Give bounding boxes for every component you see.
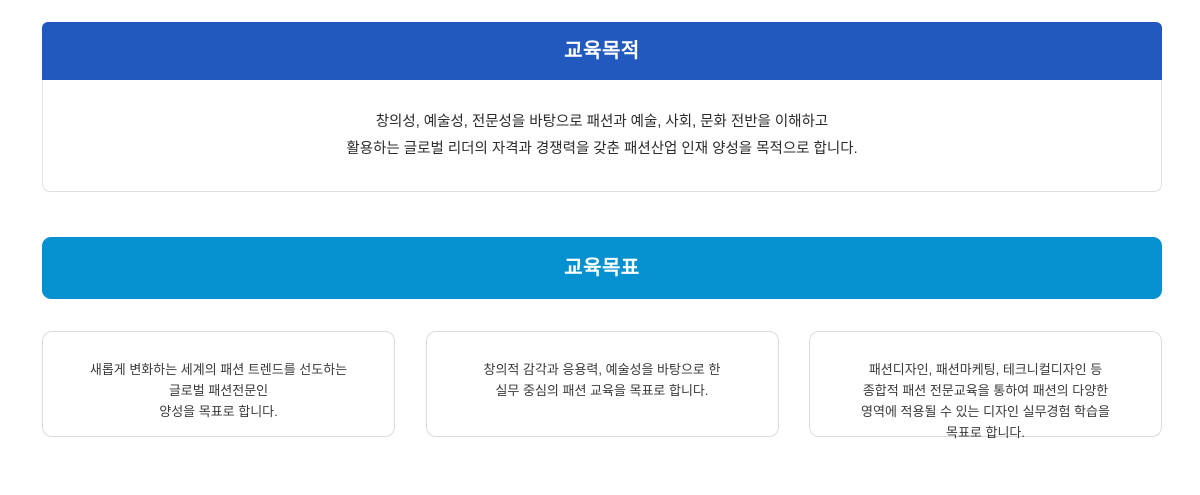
education-purpose-title: 교육목적: [564, 41, 640, 61]
education-goal-card-list: 새롭게 변화하는 세계의 패션 트렌드를 선도하는 글로벌 패션전문인 양성을 …: [42, 331, 1162, 437]
education-purpose-body: 창의성, 예술성, 전문성을 바탕으로 패션과 예술, 사회, 문화 전반을 이…: [42, 80, 1162, 192]
education-goal-card-1: 새롭게 변화하는 세계의 패션 트렌드를 선도하는 글로벌 패션전문인 양성을 …: [42, 331, 395, 437]
education-goal-card-text: 새롭게 변화하는 세계의 패션 트렌드를 선도하는 글로벌 패션전문인 양성을 …: [90, 359, 347, 422]
education-goal-card-text: 창의적 감각과 응용력, 예술성을 바탕으로 한 실무 중심의 패션 교육을 목…: [484, 359, 721, 401]
education-purpose-header: 교육목적: [42, 22, 1162, 80]
education-purpose-text: 창의성, 예술성, 전문성을 바탕으로 패션과 예술, 사회, 문화 전반을 이…: [322, 109, 881, 163]
education-goal-card-text: 패션디자인, 패션마케팅, 테크니컬디자인 등 종합적 패션 전문교육을 통하여…: [861, 359, 1110, 443]
education-purpose-section: 교육목적 창의성, 예술성, 전문성을 바탕으로 패션과 예술, 사회, 문화 …: [42, 22, 1162, 192]
education-goal-card-2: 창의적 감각과 응용력, 예술성을 바탕으로 한 실무 중심의 패션 교육을 목…: [426, 331, 779, 437]
education-goal-section: 교육목표: [42, 237, 1162, 299]
education-goal-card-3: 패션디자인, 패션마케팅, 테크니컬디자인 등 종합적 패션 전문교육을 통하여…: [809, 331, 1162, 437]
education-goal-header: 교육목표: [42, 237, 1162, 299]
page-root: 교육목적 창의성, 예술성, 전문성을 바탕으로 패션과 예술, 사회, 문화 …: [0, 0, 1200, 495]
education-goal-title: 교육목표: [564, 258, 640, 278]
